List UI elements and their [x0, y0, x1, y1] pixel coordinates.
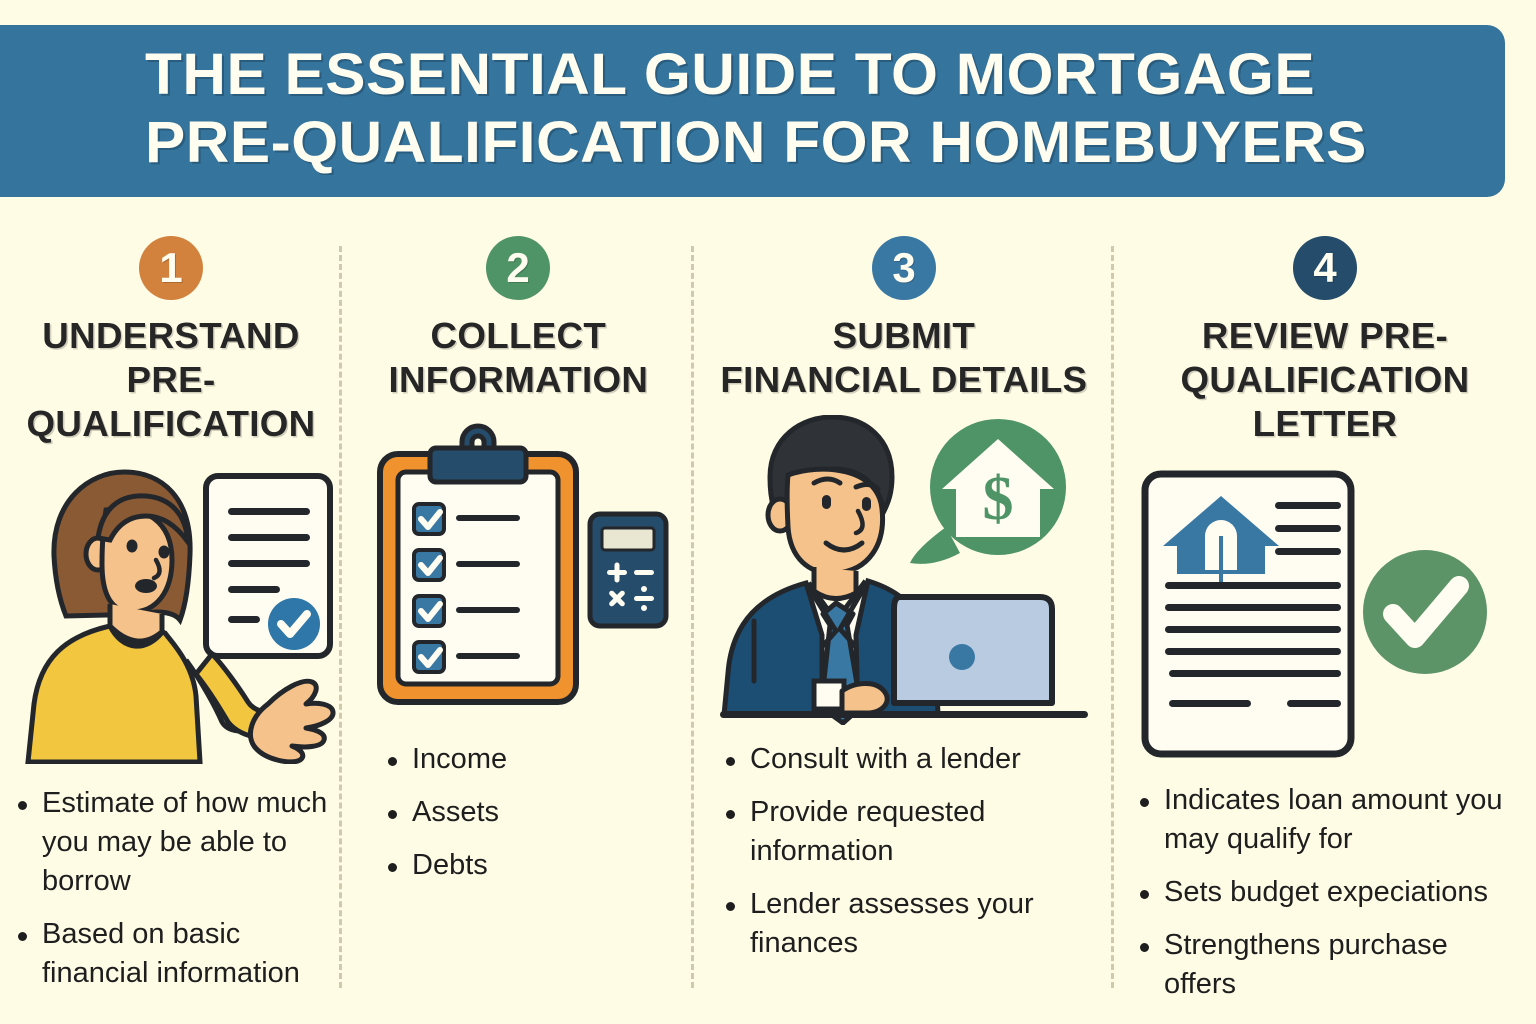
illustration-letter-with-house-and-green-check: [1114, 454, 1536, 772]
step-column-3: 3 SUBMIT FINANCIAL DETAILS $: [694, 228, 1114, 1018]
list-item: Lender assesses your finances: [722, 885, 1100, 963]
list-item: Strengthens purchase offers: [1136, 926, 1526, 1004]
step-bullets-1: Estimate of how much you may be able to …: [0, 784, 342, 1007]
step-column-2: 2 COLLECT INFORMATION: [342, 228, 694, 1018]
step-title-4: REVIEW PRE- QUALIFICATION LETTER: [1110, 314, 1536, 446]
list-item: Based on basic financial information: [14, 915, 328, 993]
list-item: Consult with a lender: [722, 740, 1100, 779]
step-title-1: UNDERSTAND PRE-QUALIFICATION: [0, 314, 345, 446]
list-item: Indicates loan amount you may qualify fo…: [1136, 781, 1526, 859]
step-number-badge-3: 3: [872, 236, 936, 300]
step-bullets-4: Indicates loan amount you may qualify fo…: [1114, 781, 1536, 1018]
step-number-badge-4: 4: [1293, 236, 1357, 300]
step-title-3: SUBMIT FINANCIAL DETAILS: [721, 314, 1088, 402]
list-item: Income: [384, 740, 680, 779]
step-title-2: COLLECT INFORMATION: [388, 314, 648, 402]
steps-container: 1 UNDERSTAND PRE-QUALIFICATION: [0, 228, 1536, 1018]
step-bullets-2: Income Assets Debts: [342, 740, 694, 899]
illustration-woman-pointing-at-document: [0, 454, 342, 774]
list-item: Provide requested information: [722, 793, 1100, 871]
list-item: Debts: [384, 846, 680, 885]
step-column-4: 4 REVIEW PRE- QUALIFICATION LETTER: [1114, 228, 1536, 1018]
step-column-1: 1 UNDERSTAND PRE-QUALIFICATION: [0, 228, 342, 1018]
step-number-badge-2: 2: [486, 236, 550, 300]
list-item: Estimate of how much you may be able to …: [14, 784, 328, 901]
title-banner: THE ESSENTIAL GUIDE TO MORTGAGE PRE-QUAL…: [0, 25, 1505, 197]
illustration-lender-at-laptop-with-house-speech-bubble: $: [694, 410, 1114, 730]
step-number-badge-1: 1: [139, 236, 203, 300]
illustration-clipboard-checklist-and-calculator: [342, 410, 694, 730]
list-item: Assets: [384, 793, 680, 832]
svg-text:$: $: [983, 465, 1014, 533]
step-bullets-3: Consult with a lender Provide requested …: [694, 740, 1114, 977]
title-line-2: PRE-QUALIFICATION FOR HOMEBUYERS: [145, 109, 1536, 177]
title-line-1: THE ESSENTIAL GUIDE TO MORTGAGE: [145, 41, 1536, 109]
list-item: Sets budget expeciations: [1136, 873, 1526, 912]
